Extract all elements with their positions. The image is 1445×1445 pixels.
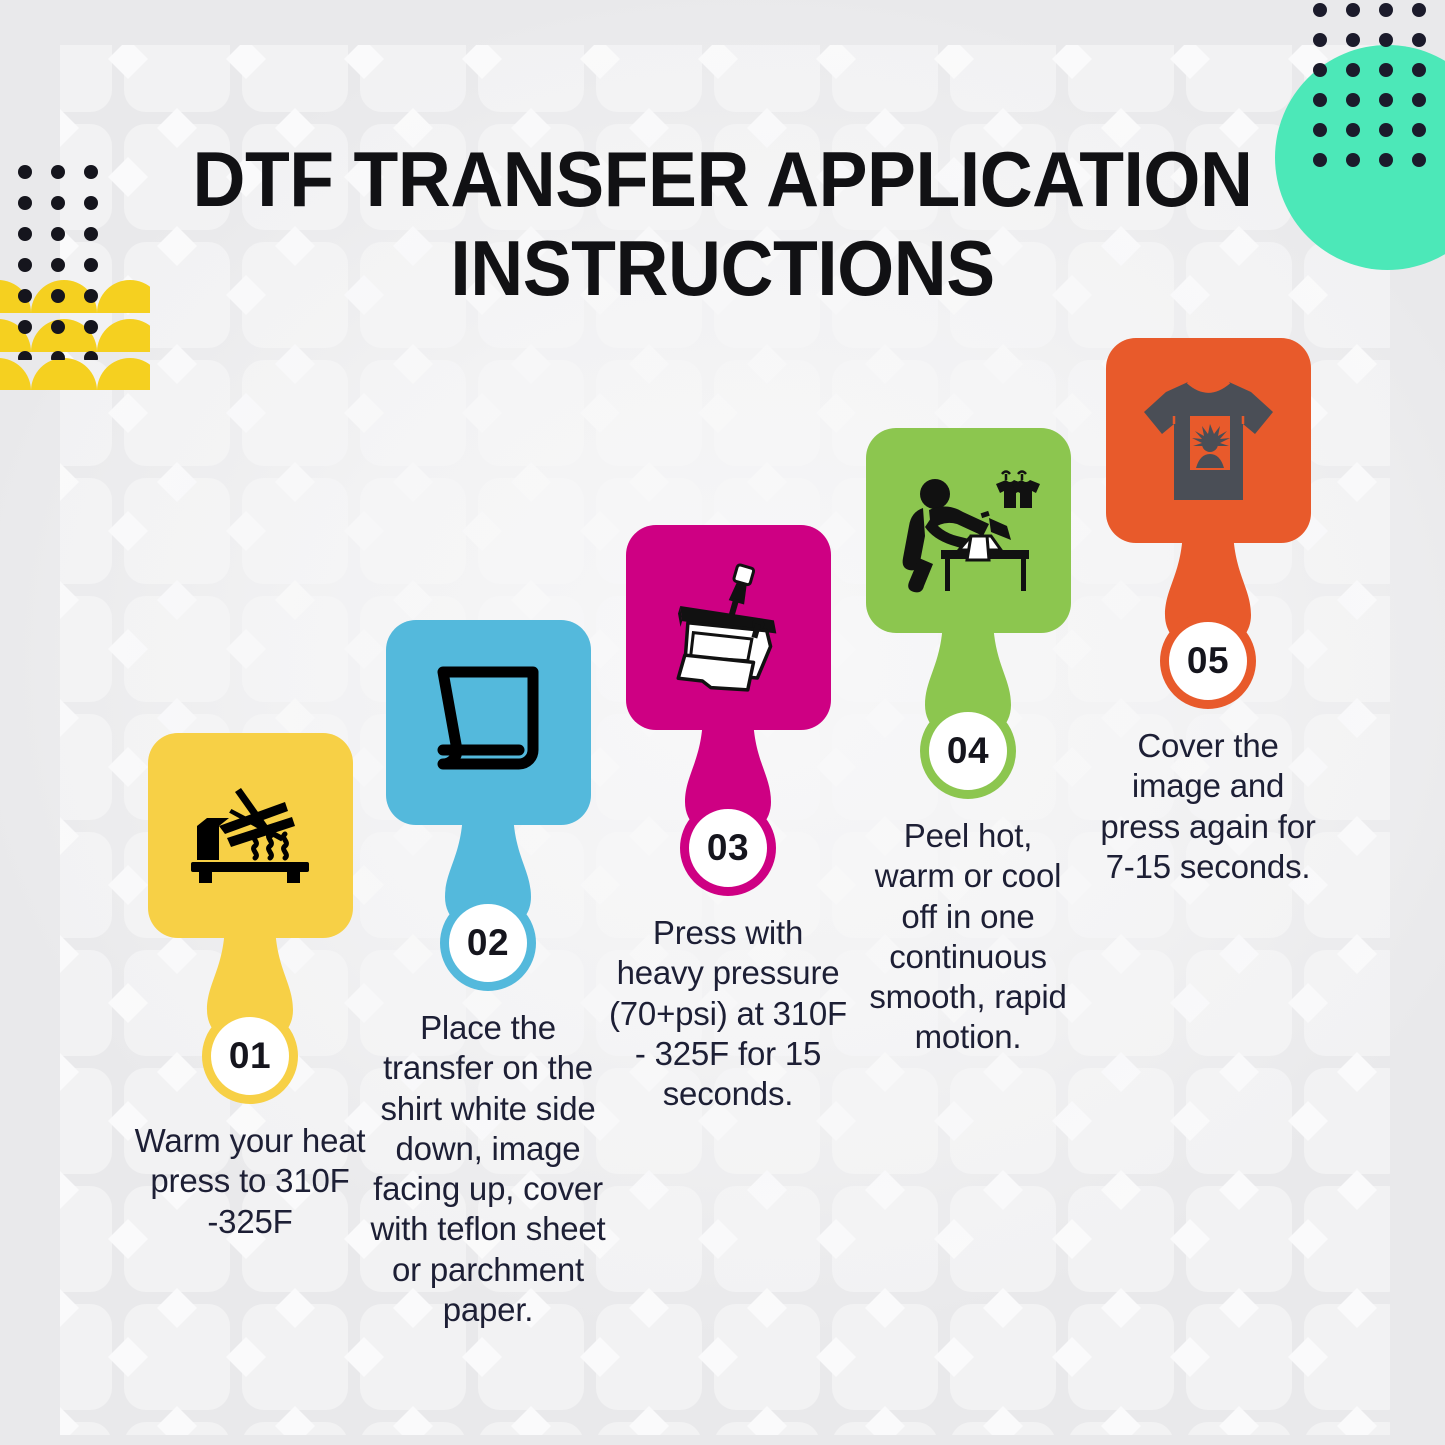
transfer-sheet-icon bbox=[427, 662, 549, 784]
step-01-number-badge: 01 bbox=[202, 1008, 298, 1104]
page-title-line1: DTF TRANSFER APPLICATION bbox=[193, 135, 1253, 223]
step-02-number-badge: 02 bbox=[440, 895, 536, 991]
step-02-icon-card bbox=[386, 620, 591, 825]
step-03-icon-card bbox=[626, 525, 831, 730]
step-04-icon-card bbox=[866, 428, 1071, 633]
step-02[interactable]: 02 Place the transfer on the shirt white… bbox=[363, 620, 613, 1330]
step-02-number: 02 bbox=[467, 922, 509, 964]
step-05-description: Cover the image and press again for 7-15… bbox=[1083, 726, 1333, 887]
page-title-line2: INSTRUCTIONS bbox=[147, 224, 1299, 313]
step-04[interactable]: 04 Peel hot, warm or cool off in one con… bbox=[843, 428, 1093, 1058]
step-04-number-badge: 04 bbox=[920, 703, 1016, 799]
step-01-icon-card bbox=[148, 733, 353, 938]
step-01[interactable]: 01 Warm your heat press to 310F -325F bbox=[125, 733, 375, 1242]
step-03[interactable]: 03 Press with heavy pressure (70+psi) at… bbox=[603, 525, 853, 1114]
step-01-number: 01 bbox=[229, 1035, 271, 1077]
step-05-number: 05 bbox=[1187, 640, 1229, 682]
step-03-number-badge: 03 bbox=[680, 800, 776, 896]
page-title: DTF TRANSFER APPLICATION INSTRUCTIONS bbox=[43, 135, 1401, 313]
step-04-description: Peel hot, warm or cool off in one contin… bbox=[843, 816, 1093, 1058]
peeling-person-icon bbox=[893, 466, 1043, 596]
step-05-number-badge: 05 bbox=[1160, 613, 1256, 709]
step-04-number: 04 bbox=[947, 730, 989, 772]
step-05-icon-card bbox=[1106, 338, 1311, 543]
heat-press-machine-icon bbox=[658, 558, 798, 698]
printed-tshirt-icon bbox=[1136, 376, 1281, 506]
step-05[interactable]: 05 Cover the image and press again for 7… bbox=[1083, 338, 1333, 887]
heat-press-open-icon bbox=[183, 780, 318, 892]
step-03-number: 03 bbox=[707, 827, 749, 869]
step-02-description: Place the transfer on the shirt white si… bbox=[363, 1008, 613, 1330]
step-03-description: Press with heavy pressure (70+psi) at 31… bbox=[603, 913, 853, 1114]
step-01-description: Warm your heat press to 310F -325F bbox=[125, 1121, 375, 1242]
